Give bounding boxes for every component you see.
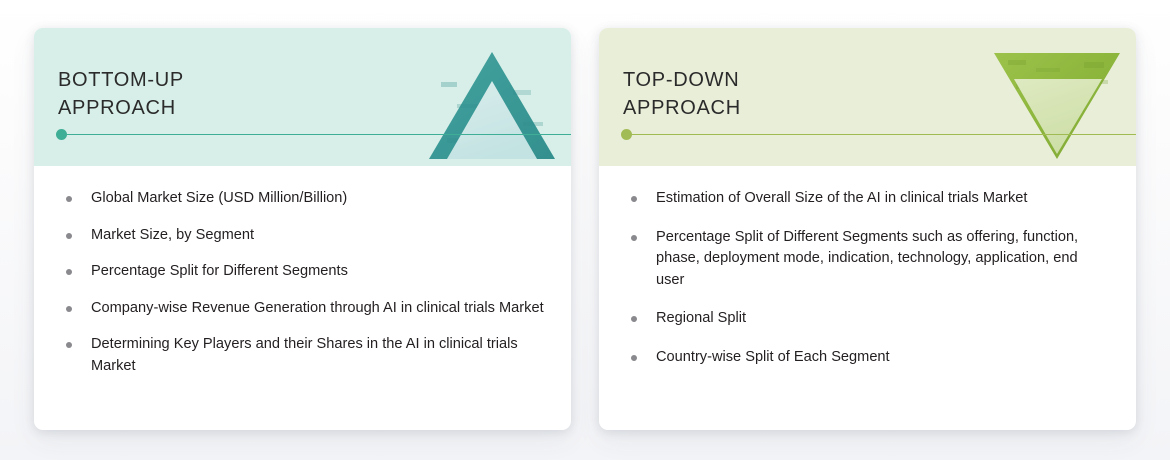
bullet-dot-icon <box>66 342 72 348</box>
list-item: Company-wise Revenue Generation through … <box>58 298 545 320</box>
bullet-dot-icon <box>631 235 637 241</box>
card-body-bottom-up: Global Market Size (USD Million/Billion)… <box>34 166 571 430</box>
connector-line <box>61 134 571 135</box>
list-item: Market Size, by Segment <box>58 225 545 247</box>
list-item-label: Percentage Split for Different Segments <box>91 263 348 279</box>
header-connector-bottom-up <box>56 129 571 140</box>
card-title-top-down: TOP-DOWN APPROACH <box>623 66 741 122</box>
bullet-dot-icon <box>66 269 72 275</box>
bullet-list-bottom-up: Global Market Size (USD Million/Billion)… <box>58 188 545 377</box>
bullet-dot-icon <box>66 233 72 239</box>
bullet-list-top-down: Estimation of Overall Size of the AI in … <box>623 188 1110 368</box>
list-item: Global Market Size (USD Million/Billion) <box>58 188 545 210</box>
card-top-down: TOP-DOWN APPROACH <box>599 28 1136 430</box>
connector-dot <box>56 129 67 140</box>
bullet-dot-icon <box>66 306 72 312</box>
connector-dot <box>621 129 632 140</box>
triangle-down-icon <box>992 46 1122 166</box>
list-item: Percentage Split for Different Segments <box>58 261 545 283</box>
list-item-label: Country-wise Split of Each Segment <box>656 349 890 365</box>
list-item-label: Global Market Size (USD Million/Billion) <box>91 190 347 206</box>
list-item: Regional Split <box>623 308 1110 330</box>
bullet-dot-icon <box>66 196 72 202</box>
list-item-label: Regional Split <box>656 310 746 326</box>
list-item: Determining Key Players and their Shares… <box>58 334 545 377</box>
list-item: Estimation of Overall Size of the AI in … <box>623 188 1110 210</box>
list-item-label: Estimation of Overall Size of the AI in … <box>656 190 1027 206</box>
card-header-top-down: TOP-DOWN APPROACH <box>599 28 1136 166</box>
list-item-label: Market Size, by Segment <box>91 227 254 243</box>
card-body-top-down: Estimation of Overall Size of the AI in … <box>599 166 1136 430</box>
list-item-label: Determining Key Players and their Shares… <box>91 336 518 374</box>
card-bottom-up: BOTTOM-UP APPROACH <box>34 28 571 430</box>
bullet-dot-icon <box>631 196 637 202</box>
header-connector-top-down <box>621 129 1136 140</box>
card-header-bottom-up: BOTTOM-UP APPROACH <box>34 28 571 166</box>
triangle-up-icon <box>427 46 557 166</box>
bullet-dot-icon <box>631 355 637 361</box>
list-item-label: Percentage Split of Different Segments s… <box>656 229 1078 288</box>
connector-line <box>626 134 1136 135</box>
list-item-label: Company-wise Revenue Generation through … <box>91 300 544 316</box>
bullet-dot-icon <box>631 316 637 322</box>
list-item: Country-wise Split of Each Segment <box>623 347 1110 369</box>
approach-cards-container: BOTTOM-UP APPROACH <box>0 0 1170 460</box>
card-title-bottom-up: BOTTOM-UP APPROACH <box>58 66 184 122</box>
list-item: Percentage Split of Different Segments s… <box>623 227 1110 292</box>
